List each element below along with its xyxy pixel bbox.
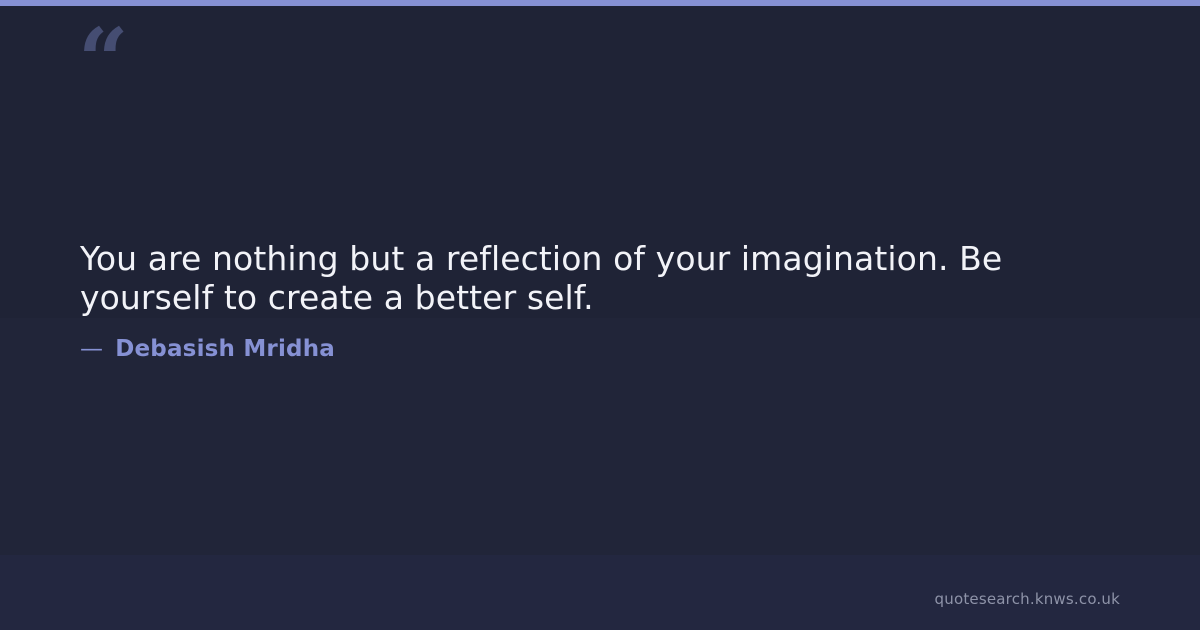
quote-content: “ You are nothing but a reflection of yo…	[0, 0, 1200, 630]
author-name: Debasish Mridha	[115, 336, 335, 362]
author-attribution: — Debasish Mridha	[80, 336, 335, 362]
author-dash: —	[80, 336, 103, 362]
top-accent-bar	[0, 0, 1200, 6]
quote-text: You are nothing but a reflection of your…	[80, 240, 1125, 318]
site-watermark: quotesearch.knws.co.uk	[935, 590, 1120, 608]
quote-card: “ You are nothing but a reflection of yo…	[0, 0, 1200, 630]
opening-quotation-mark-icon: “	[78, 16, 127, 104]
